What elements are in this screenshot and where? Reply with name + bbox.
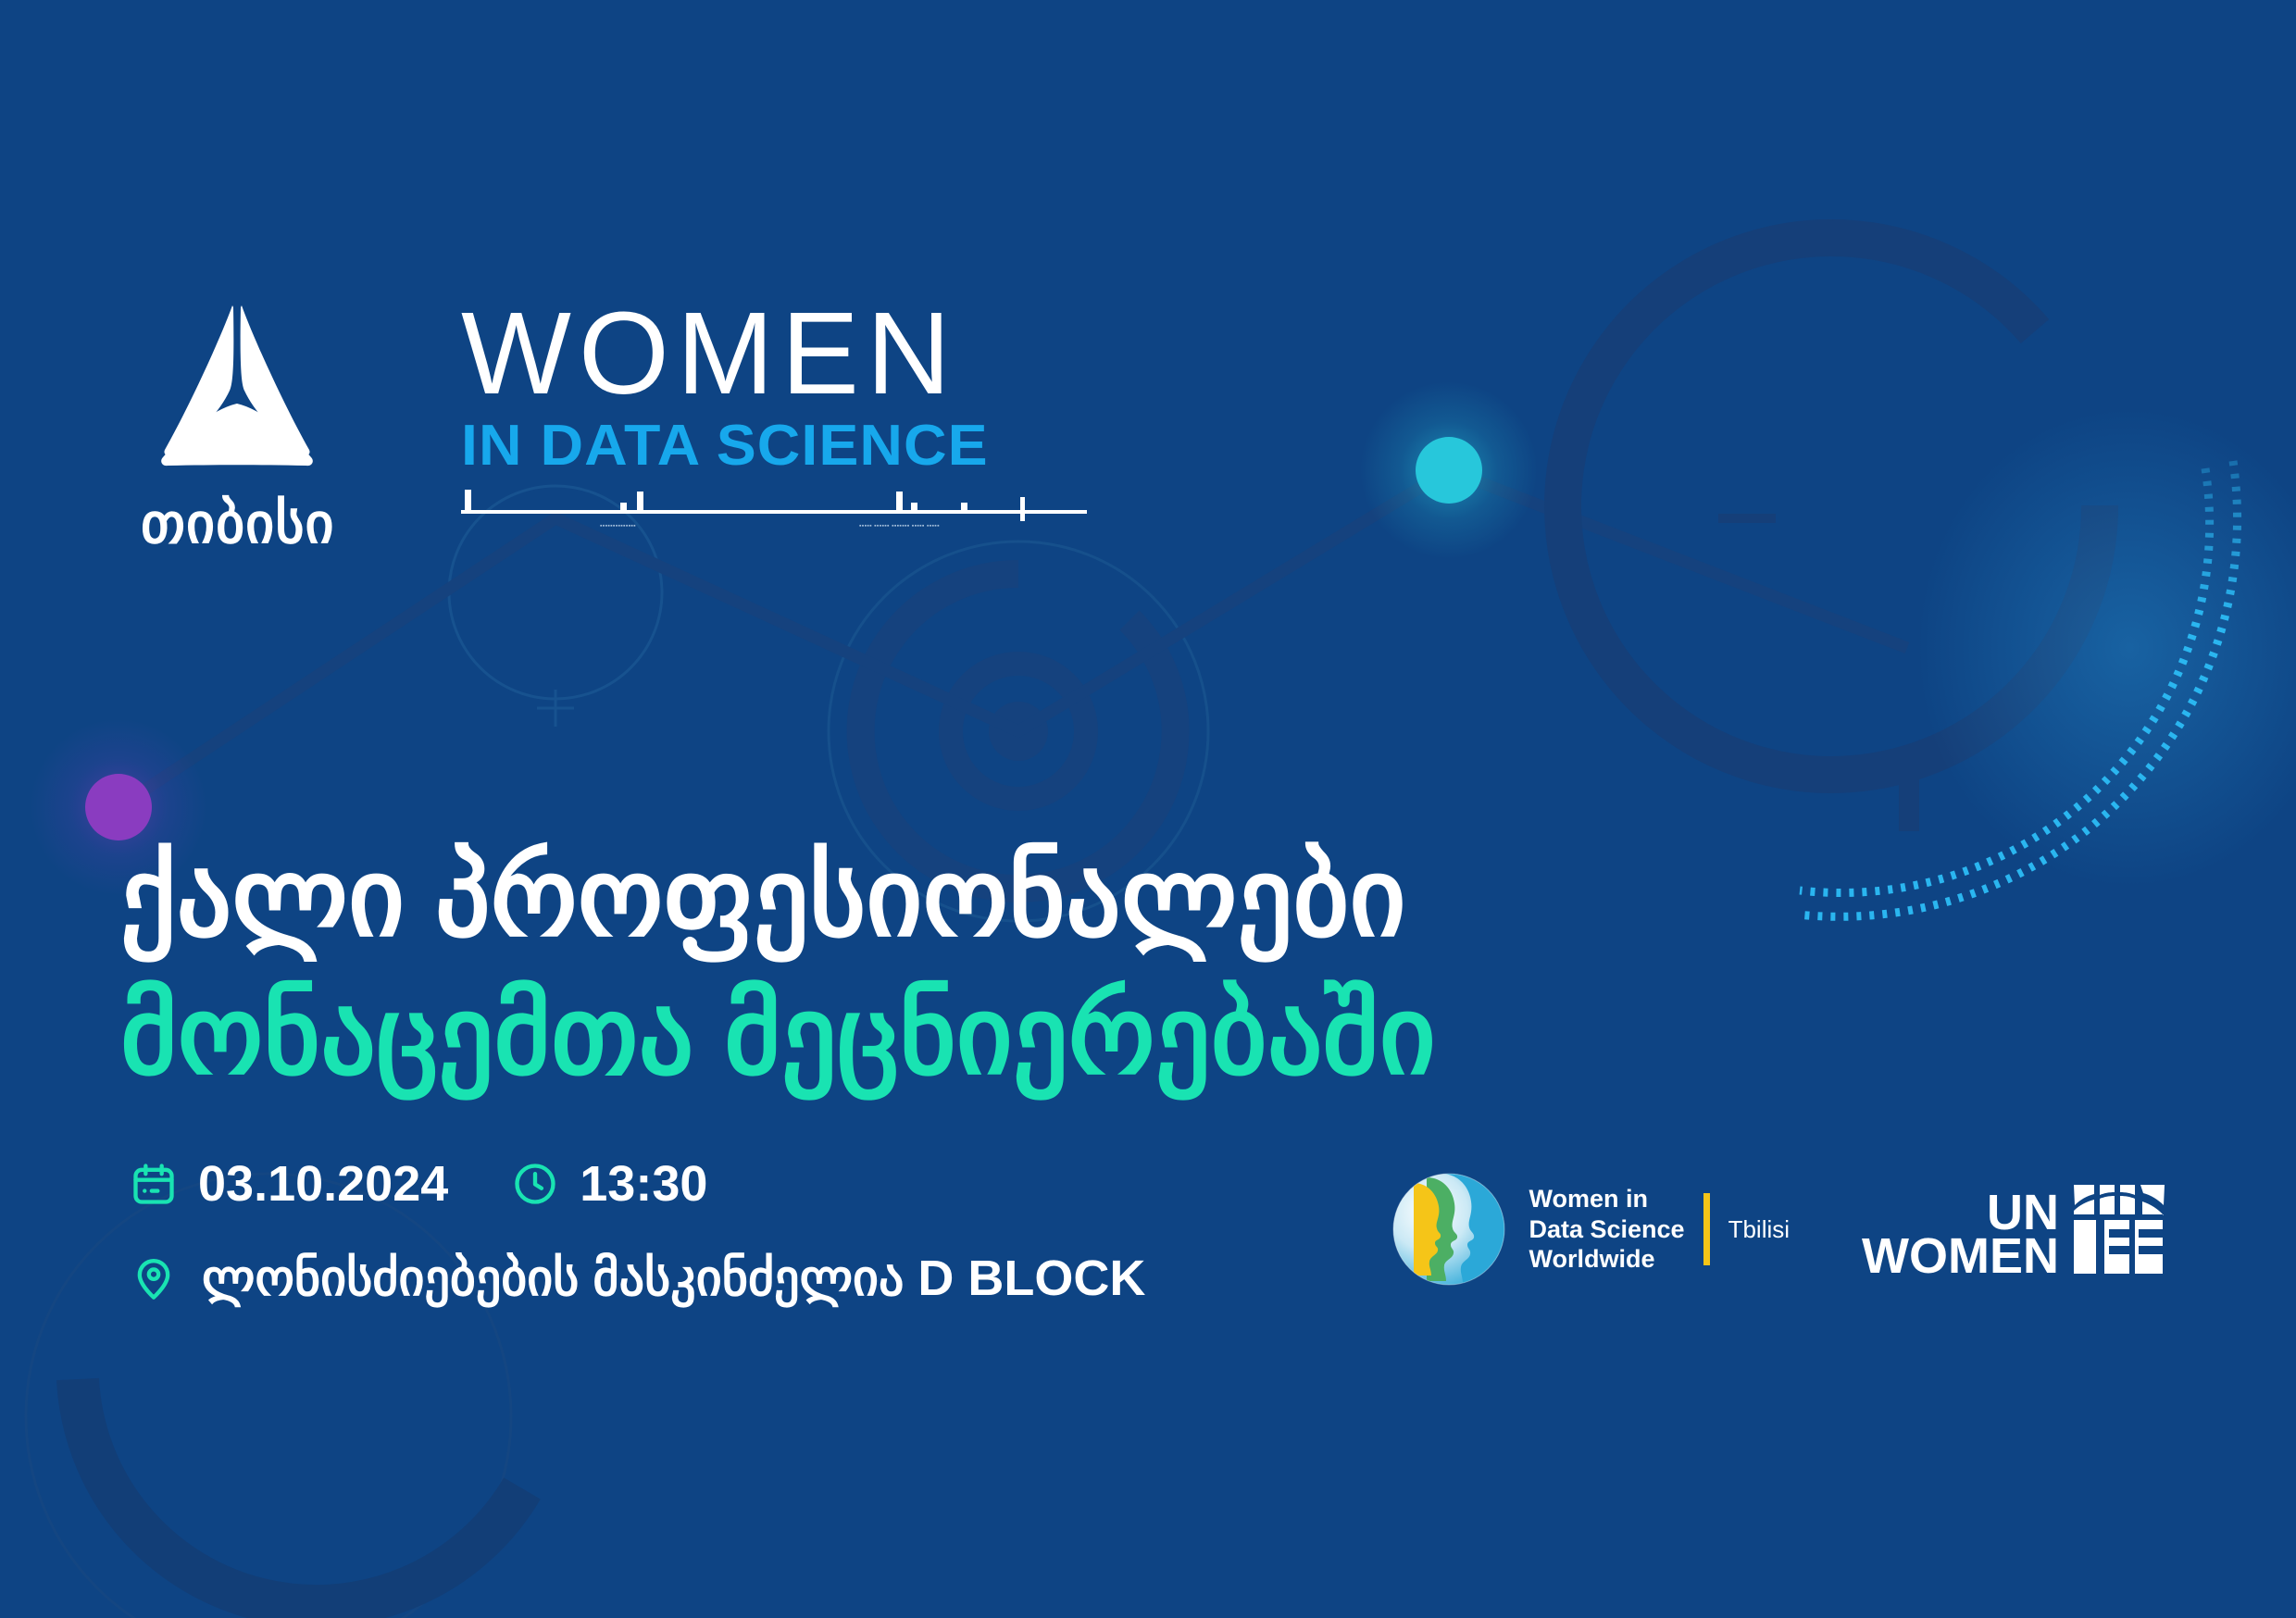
wids-microtext-left: ▪▪▪▪▪▪▪▪▪▪▪▪▪▪ xyxy=(600,523,636,529)
decor-dotted-arc-inner xyxy=(1800,468,2210,893)
decor-arc-glow xyxy=(1916,407,2296,889)
event-time-pair: 13:30 xyxy=(511,1159,707,1209)
wids-line-3: Worldwide xyxy=(1529,1244,1684,1275)
tbc-wordmark: თიბისი xyxy=(139,496,407,552)
un-women-logo: UN WOMEN xyxy=(1862,1181,2168,1277)
headline-line-2: მონაცემთა მეცნიერებაში xyxy=(120,978,1879,1094)
clock-icon xyxy=(511,1160,559,1208)
event-details: 03.10.2024 13:30 ლონისძიებების მასკინძელ… xyxy=(130,1159,1145,1303)
event-date-pair: 03.10.2024 xyxy=(130,1159,448,1209)
wids-microtext-right: ▪▪▪▪▪ ▪▪▪▪▪▪ ▪▪▪▪▪▪▪ ▪▪▪▪▪ ▪▪▪▪▪ xyxy=(859,523,940,529)
event-date-time-row: 03.10.2024 13:30 xyxy=(130,1159,1145,1209)
event-poster: თიბისი WOMEN IN DATA SCIENCE ▪▪▪▪▪▪▪▪▪▪▪… xyxy=(0,0,2296,1618)
wids-line-1: Women in xyxy=(1529,1184,1684,1214)
tbc-logo: თიბისი xyxy=(139,294,407,552)
cyan-node-glow xyxy=(1360,381,1538,559)
un-women-line-2: WOMEN xyxy=(1862,1235,2059,1277)
wids-axis-rule: ▪▪▪▪▪▪▪▪▪▪▪▪▪▪ ▪▪▪▪▪ ▪▪▪▪▪▪ ▪▪▪▪▪▪▪ ▪▪▪▪… xyxy=(461,490,1087,521)
event-venue-row: ლონისძიებების მასკინძელია D BLOCK xyxy=(130,1253,1145,1303)
location-pin-icon xyxy=(130,1254,178,1302)
wids-tbilisi-text: Women in Data Science Worldwide Tbilisi xyxy=(1529,1184,1790,1276)
wids-tick-7 xyxy=(1020,497,1025,521)
wids-tick-1 xyxy=(465,490,471,510)
wids-women-text: WOMEN xyxy=(461,296,1128,410)
wids-tbilisi-logo: Women in Data Science Worldwide Tbilisi xyxy=(1390,1170,1790,1288)
wids-line-2: Data Science xyxy=(1529,1214,1684,1245)
wids-wordmark-logo: WOMEN IN DATA SCIENCE ▪▪▪▪▪▪▪▪▪▪▪▪▪▪ ▪▪▪… xyxy=(461,296,1128,521)
wids-city-label: Tbilisi xyxy=(1728,1215,1790,1244)
wids-globe-faces-icon xyxy=(1390,1170,1508,1288)
event-time-text: 13:30 xyxy=(580,1159,707,1209)
decor-big-ring-right xyxy=(1563,238,2100,775)
decor-thick-arc-bottomleft xyxy=(78,1379,522,1606)
wids-tick-2 xyxy=(620,503,627,510)
headline-line-1: ქალი პროფესიონალები xyxy=(120,840,1879,956)
partner-logos: Women in Data Science Worldwide Tbilisi … xyxy=(1390,1170,2168,1288)
wids-tick-4 xyxy=(896,492,903,510)
background-decoration xyxy=(0,0,2296,1618)
un-women-text: UN WOMEN xyxy=(1862,1191,2059,1277)
decor-radar-inner-ring xyxy=(951,664,1086,799)
cyan-node-dot xyxy=(1416,437,1482,504)
event-venue-text: ლონისძიებების მასკინძელია D BLOCK xyxy=(202,1253,1145,1303)
purple-node-dot xyxy=(85,774,152,840)
page-title: ქალი პროფესიონალები მონაცემთა მეცნიერება… xyxy=(120,840,1879,1094)
decor-radar-core xyxy=(989,702,1048,761)
calendar-icon xyxy=(130,1160,178,1208)
decor-thin-crosshair-left xyxy=(537,690,574,727)
wids-tick-3 xyxy=(637,492,643,510)
event-date-text: 03.10.2024 xyxy=(198,1159,448,1209)
wids-yellow-divider xyxy=(1703,1193,1710,1265)
wids-subtitle-text: IN DATA SCIENCE xyxy=(461,417,1154,475)
wids-tick-5 xyxy=(911,503,917,510)
wids-axis-line xyxy=(461,510,1087,514)
tbc-triangle-logo-icon xyxy=(144,294,330,476)
wids-tick-6 xyxy=(961,503,967,510)
wids-worldwide-lines: Women in Data Science Worldwide xyxy=(1529,1184,1684,1276)
un-women-emblem-icon xyxy=(2072,1181,2168,1277)
